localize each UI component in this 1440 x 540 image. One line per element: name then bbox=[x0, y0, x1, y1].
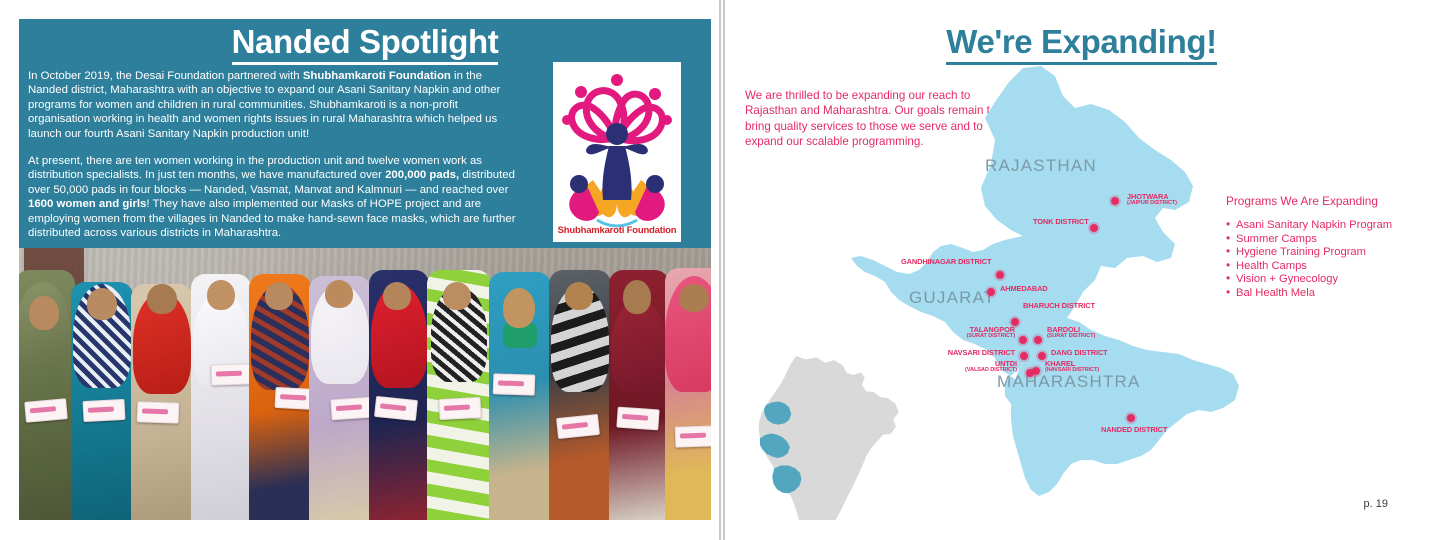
map-label-dang-name: DANG DISTRICT bbox=[1051, 348, 1108, 357]
map-label-dang-district: DANG DISTRICT bbox=[1051, 349, 1108, 357]
map-dot-navsari[interactable] bbox=[1020, 352, 1028, 360]
photo-pad-pack bbox=[616, 407, 659, 431]
map-dot-bardoli[interactable] bbox=[1034, 336, 1042, 344]
photo-pad-pack bbox=[675, 425, 711, 447]
state-label-gujarat: GUJARAT bbox=[909, 288, 995, 308]
map-label-kharel: KHAREL (NAVSARI DISTRICT) bbox=[1045, 360, 1099, 374]
left-paragraph-2: At present, there are ten women working … bbox=[28, 154, 518, 240]
map-dot-gandhinagar[interactable] bbox=[996, 271, 1004, 279]
map-dot-tonk[interactable] bbox=[1090, 224, 1098, 232]
india-inset-map bbox=[759, 356, 899, 520]
spread-gutter-left-edge bbox=[719, 0, 721, 540]
photo-pad-pack bbox=[24, 398, 68, 423]
photo-pad-pack bbox=[556, 414, 600, 439]
programs-expanding-block: Programs We Are Expanding Asani Sanitary… bbox=[1226, 193, 1431, 301]
photo-person-face bbox=[565, 282, 593, 310]
map-label-nanded-district: NANDED DISTRICT bbox=[1101, 426, 1163, 434]
photo-person-face bbox=[325, 280, 353, 308]
map-label-ahmedabad: AHMEDABAD bbox=[1000, 285, 1048, 293]
left-title-text: Nanded Spotlight bbox=[232, 23, 499, 65]
map-states-shape bbox=[851, 66, 1239, 496]
map-label-talangpor-sub: (SURAT DISTRICT) bbox=[937, 334, 1015, 340]
magazine-spread: Nanded Spotlight In October 2019, the De… bbox=[0, 0, 1440, 540]
map-label-tonk-name: TONK DISTRICT bbox=[1033, 217, 1089, 226]
map-label-ahmedabad-name: AHMEDABAD bbox=[1000, 284, 1048, 293]
photo-person-face bbox=[623, 280, 651, 314]
photo-pad-pack bbox=[438, 397, 481, 420]
map-label-gandhinagar-district: GANDHINAGAR DISTRICT bbox=[901, 258, 991, 266]
map-label-bharuch-district: BHARUCH DISTRICT bbox=[1023, 302, 1089, 310]
partner-logo-card: Shubhamkaroti Foundation bbox=[553, 62, 681, 242]
right-title-text: We're Expanding! bbox=[946, 23, 1216, 65]
page-title-were-expanding: We're Expanding! bbox=[723, 22, 1440, 62]
photo-person-face bbox=[147, 284, 177, 314]
programs-heading: Programs We Are Expanding bbox=[1226, 193, 1431, 209]
map-label-navsari-name: NAVSARI DISTRICT bbox=[948, 348, 1015, 357]
program-item: Asani Sanitary Napkin Program bbox=[1226, 219, 1431, 233]
left-body-copy: In October 2019, the Desai Foundation pa… bbox=[28, 69, 518, 253]
photo-pad-pack bbox=[82, 399, 125, 422]
map-label-navsari-district: NAVSARI DISTRICT bbox=[917, 349, 1015, 357]
map-label-gandhinagar-name: GANDHINAGAR DISTRICT bbox=[901, 257, 991, 266]
nanded-group-photo: p. 18 bbox=[19, 248, 711, 520]
program-item: Summer Camps bbox=[1226, 233, 1431, 247]
program-item: Hygiene Training Program bbox=[1226, 246, 1431, 260]
map-label-kharel-sub: (NAVSARI DISTRICT) bbox=[1045, 368, 1099, 374]
right-page: We're Expanding! We are thrilled to be e… bbox=[723, 0, 1440, 540]
photo-person-face bbox=[29, 296, 59, 330]
map-dot-jhotwara[interactable] bbox=[1111, 197, 1119, 205]
photo-person-face bbox=[87, 288, 117, 320]
page-number-right: p. 19 bbox=[1364, 498, 1388, 510]
map-label-untdi-sub: (VALSAD DISTRICT) bbox=[937, 368, 1017, 374]
photo-pad-pack bbox=[493, 373, 536, 395]
photo-person-face bbox=[265, 282, 293, 310]
program-item: Bal Health Mela bbox=[1226, 287, 1431, 301]
photo-person-face bbox=[443, 282, 471, 310]
photo-person-face bbox=[503, 288, 535, 328]
map-label-tonk-district: TONK DISTRICT bbox=[1033, 218, 1085, 226]
map-label-nanded-name: NANDED DISTRICT bbox=[1101, 425, 1167, 434]
left-page: Nanded Spotlight In October 2019, the De… bbox=[0, 0, 721, 540]
map-dot-kharel[interactable] bbox=[1032, 367, 1040, 375]
map-label-jhotwara-sub: (JAIPUR DISTRICT) bbox=[1127, 201, 1177, 207]
photo-pad-pack bbox=[330, 397, 373, 421]
program-item: Health Camps bbox=[1226, 260, 1431, 274]
map-label-jhotwara: JHOTWARA (JAIPUR DISTRICT) bbox=[1127, 193, 1177, 207]
map-label-untdi: UNTDI (VALSAD DISTRICT) bbox=[937, 360, 1017, 374]
state-label-rajasthan: RAJASTHAN bbox=[985, 156, 1097, 176]
program-item: Vision + Gynecology bbox=[1226, 273, 1431, 287]
photo-pad-pack bbox=[211, 363, 254, 385]
map-dot-nanded[interactable] bbox=[1127, 414, 1135, 422]
map-dot-ahmedabad[interactable] bbox=[987, 288, 995, 296]
left-paragraph-1: In October 2019, the Desai Foundation pa… bbox=[28, 69, 518, 141]
photo-person-face bbox=[679, 284, 709, 312]
photo-person-face bbox=[207, 280, 235, 310]
photo-person-face bbox=[383, 282, 411, 310]
logo-wordmark: Shubhamkaroti Foundation bbox=[553, 225, 681, 236]
map-label-bardoli: BARDOLI (SURAT DISTRICT) bbox=[1047, 326, 1095, 340]
shubhamkaroti-logo-icon bbox=[553, 62, 681, 242]
programs-list: Asani Sanitary Napkin Program Summer Cam… bbox=[1226, 219, 1431, 301]
map-label-bharuch-name: BHARUCH DISTRICT bbox=[1023, 301, 1095, 310]
map-dot-talangpor[interactable] bbox=[1019, 336, 1027, 344]
map-label-bardoli-sub: (SURAT DISTRICT) bbox=[1047, 334, 1095, 340]
photo-pad-pack bbox=[137, 401, 180, 423]
maharashtra-state-shape bbox=[1011, 318, 1239, 496]
photo-pad-pack bbox=[374, 396, 418, 421]
map-label-talangpor: TALANGPOR (SURAT DISTRICT) bbox=[937, 326, 1015, 340]
state-label-maharashtra: MAHARASHTRA bbox=[997, 372, 1141, 392]
page-title-nanded-spotlight: Nanded Spotlight bbox=[19, 22, 711, 62]
